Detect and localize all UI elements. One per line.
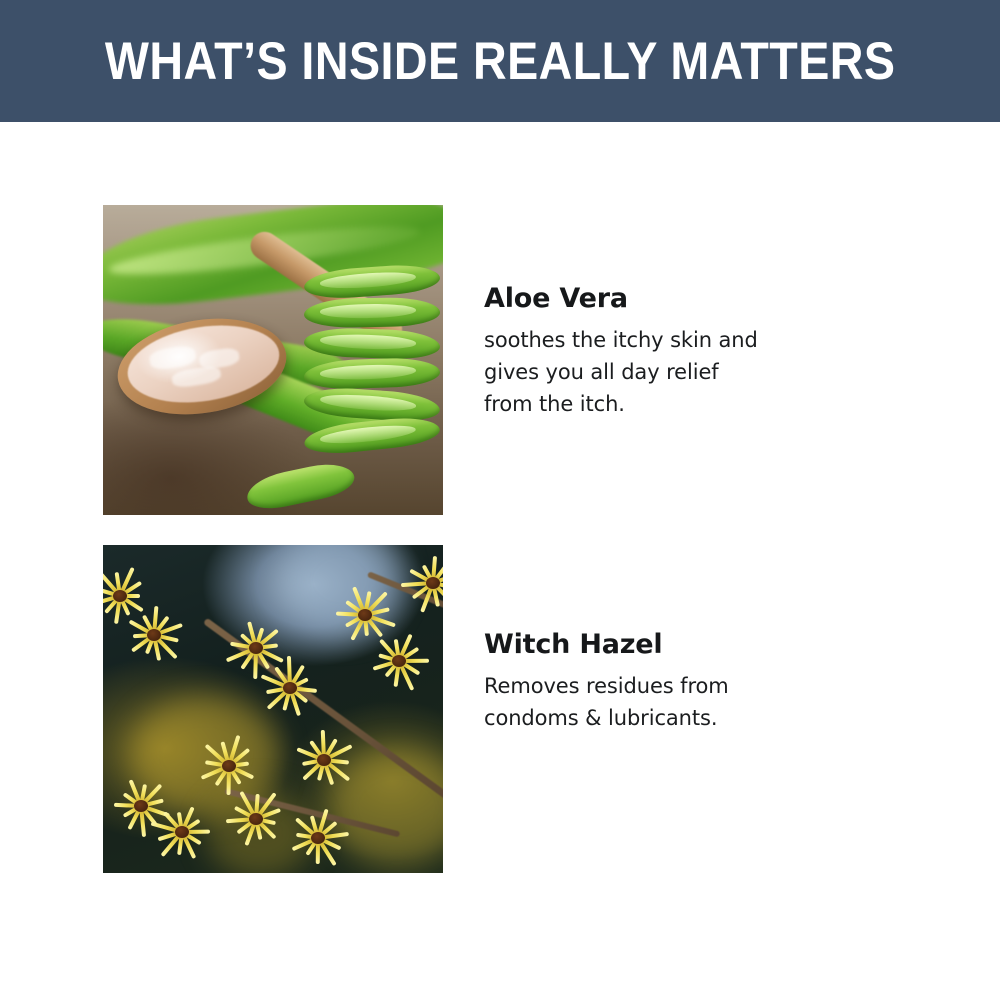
header-banner: WHAT’S INSIDE REALLY MATTERS — [0, 0, 1000, 122]
aloe-slice — [303, 385, 441, 423]
ingredient-name-witch-hazel: Witch Hazel — [484, 628, 904, 662]
witch-hazel-flower — [259, 657, 321, 719]
witch-hazel-text-block: Witch Hazel Removes residues from condom… — [484, 628, 904, 734]
witch-hazel-flower — [287, 807, 349, 869]
aloe-slice — [303, 357, 440, 391]
witch-hazel-flower — [225, 788, 287, 850]
ingredients-infographic: WHAT’S INSIDE REALLY MATTERS — [0, 0, 1000, 1000]
witch-hazel-flower — [151, 801, 213, 863]
aloe-vera-photo-content — [103, 205, 443, 515]
page-title: WHAT’S INSIDE REALLY MATTERS — [105, 35, 896, 88]
aloe-vera-text-block: Aloe Vera soothes the itchy skin and giv… — [484, 282, 904, 420]
aloe-slice — [303, 326, 440, 360]
witch-hazel-flower — [368, 630, 430, 692]
aloe-slice — [302, 414, 440, 457]
gel-chunk — [171, 365, 222, 389]
ingredient-name-aloe-vera: Aloe Vera — [484, 282, 904, 316]
aloe-slice — [303, 297, 439, 328]
witch-hazel-photo-content — [103, 545, 443, 873]
witch-hazel-flower — [402, 552, 443, 614]
gel-chunk — [149, 345, 197, 371]
witch-hazel-photo — [103, 545, 443, 873]
aloe-slice — [303, 262, 441, 300]
aloe-slice-stack — [304, 267, 440, 459]
ingredients-list: Aloe Vera soothes the itchy skin and giv… — [0, 122, 1000, 1000]
ingredient-description-witch-hazel: Removes residues from condoms & lubrican… — [484, 670, 904, 734]
ingredient-description-aloe-vera: soothes the itchy skin and gives you all… — [484, 324, 904, 420]
witch-hazel-flower — [123, 604, 185, 666]
witch-hazel-flower — [293, 729, 355, 791]
aloe-vera-photo — [103, 205, 443, 515]
